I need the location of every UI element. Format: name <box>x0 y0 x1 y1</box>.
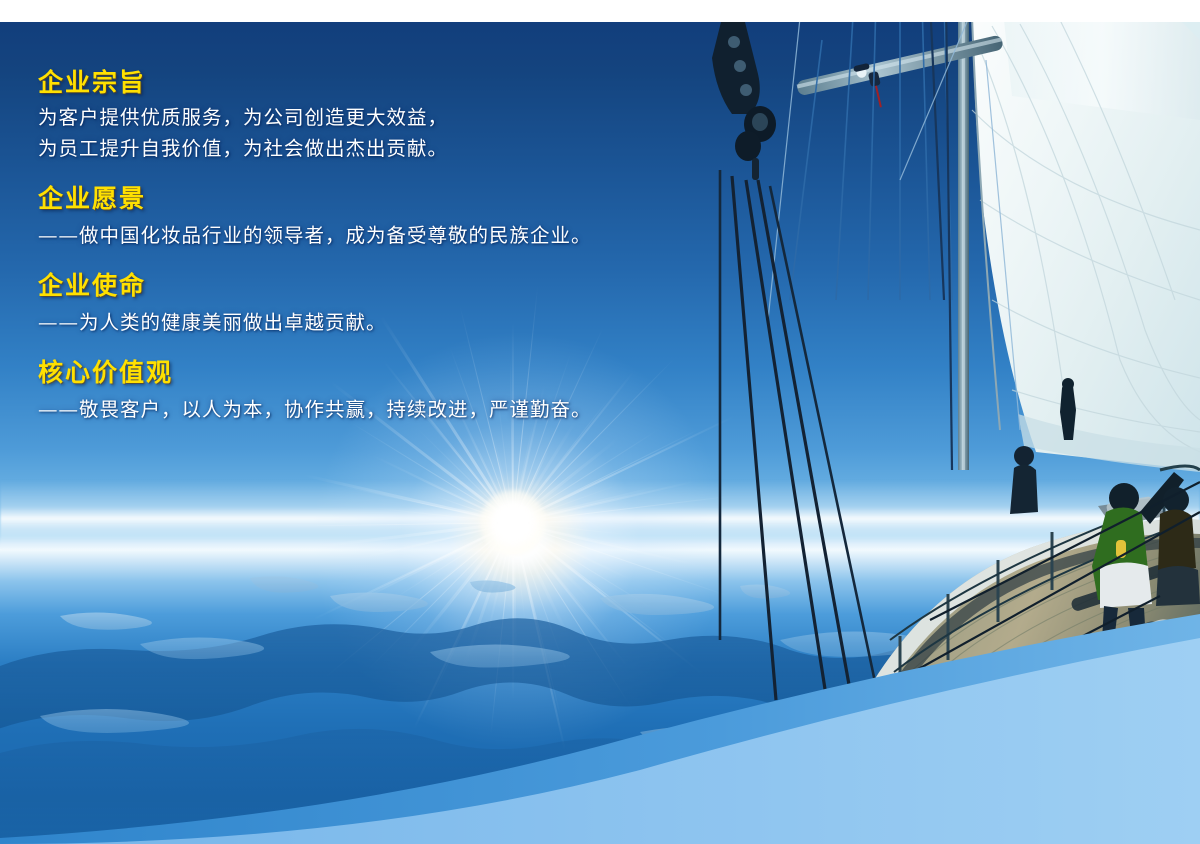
section-corporate-purpose: 企业宗旨 为客户提供优质服务，为公司创造更大效益， 为员工提升自我价值，为社会做… <box>38 66 738 164</box>
section-heading: 核心价值观 <box>38 356 738 390</box>
section-line: ——为人类的健康美丽做出卓越贡献。 <box>38 307 738 338</box>
section-corporate-mission: 企业使命 ——为人类的健康美丽做出卓越贡献。 <box>38 269 738 338</box>
top-white-strip <box>0 0 1200 22</box>
corporate-culture-banner: 企业宗旨 为客户提供优质服务，为公司创造更大效益， 为员工提升自我价值，为社会做… <box>0 0 1200 844</box>
corporate-culture-text-block: 企业宗旨 为客户提供优质服务，为公司创造更大效益， 为员工提升自我价值，为社会做… <box>38 66 738 425</box>
section-line: 为员工提升自我价值，为社会做出杰出贡献。 <box>38 133 738 164</box>
section-line: 为客户提供优质服务，为公司创造更大效益， <box>38 102 738 133</box>
section-heading: 企业愿景 <box>38 182 738 216</box>
section-heading: 企业使命 <box>38 269 738 303</box>
section-line: ——敬畏客户，以人为本，协作共赢，持续改进，严谨勤奋。 <box>38 394 738 425</box>
section-corporate-vision: 企业愿景 ——做中国化妆品行业的领导者，成为备受尊敬的民族企业。 <box>38 182 738 251</box>
section-heading: 企业宗旨 <box>38 66 738 100</box>
section-core-values: 核心价值观 ——敬畏客户，以人为本，协作共赢，持续改进，严谨勤奋。 <box>38 356 738 425</box>
section-line: ——做中国化妆品行业的领导者，成为备受尊敬的民族企业。 <box>38 220 738 251</box>
